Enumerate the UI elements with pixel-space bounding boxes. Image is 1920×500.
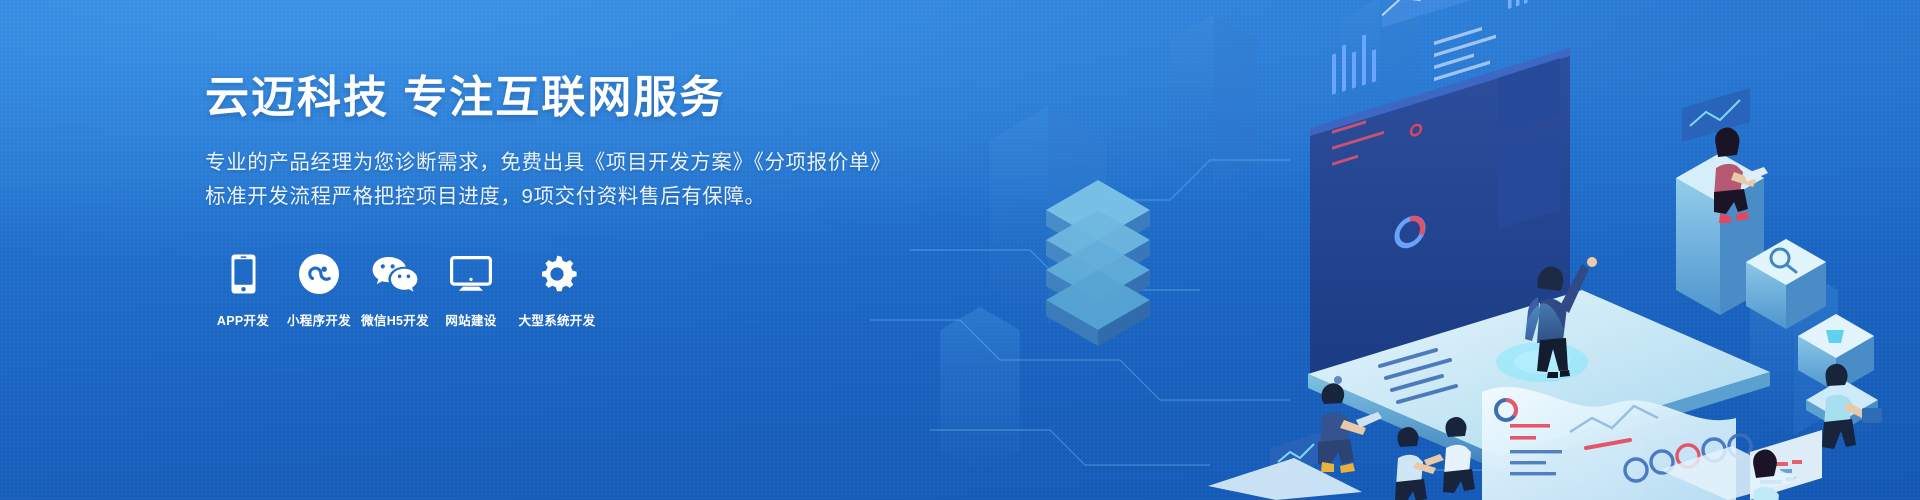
small-tablet-left <box>1208 458 1362 500</box>
service-label: 网站建设 <box>445 310 496 329</box>
service-item-wechat-h5[interactable]: 微信H5开发 <box>357 252 433 329</box>
mobile-phone-icon <box>205 252 281 296</box>
mini-program-icon <box>281 252 357 296</box>
service-label: 小程序开发 <box>287 310 351 329</box>
service-item-mini-program[interactable]: 小程序开发 <box>281 252 357 329</box>
service-item-app[interactable]: APP开发 <box>205 252 281 329</box>
monitor-icon <box>433 252 509 296</box>
service-item-large-system[interactable]: 大型系统开发 <box>509 252 605 329</box>
service-label: 大型系统开发 <box>519 310 596 329</box>
gear-icon <box>509 252 605 296</box>
service-list: APP开发 小程序开发 <box>205 252 925 329</box>
wechat-icon <box>357 252 433 296</box>
page-title: 云迈科技 专注互联网服务 <box>205 72 925 124</box>
server-stack-blocks <box>1046 180 1150 346</box>
hero-banner: 云迈科技 专注互联网服务 专业的产品经理为您诊断需求，免费出具《项目开发方案》《… <box>0 0 1920 500</box>
hero-subtitle: 专业的产品经理为您诊断需求，免费出具《项目开发方案》《分项报价单》 标准开发流程… <box>205 146 925 214</box>
service-item-website[interactable]: 网站建设 <box>433 252 509 329</box>
hero-copy: 云迈科技 专注互联网服务 专业的产品经理为您诊断需求，免费出具《项目开发方案》《… <box>205 72 925 329</box>
service-label: APP开发 <box>217 310 269 329</box>
isometric-illustration <box>860 0 1920 500</box>
service-label: 微信H5开发 <box>361 310 429 329</box>
subtitle-line-1: 专业的产品经理为您诊断需求，免费出具《项目开发方案》《分项报价单》 <box>205 146 925 180</box>
subtitle-line-2: 标准开发流程严格把控项目进度，9项交付资料售后有保障。 <box>205 180 925 214</box>
